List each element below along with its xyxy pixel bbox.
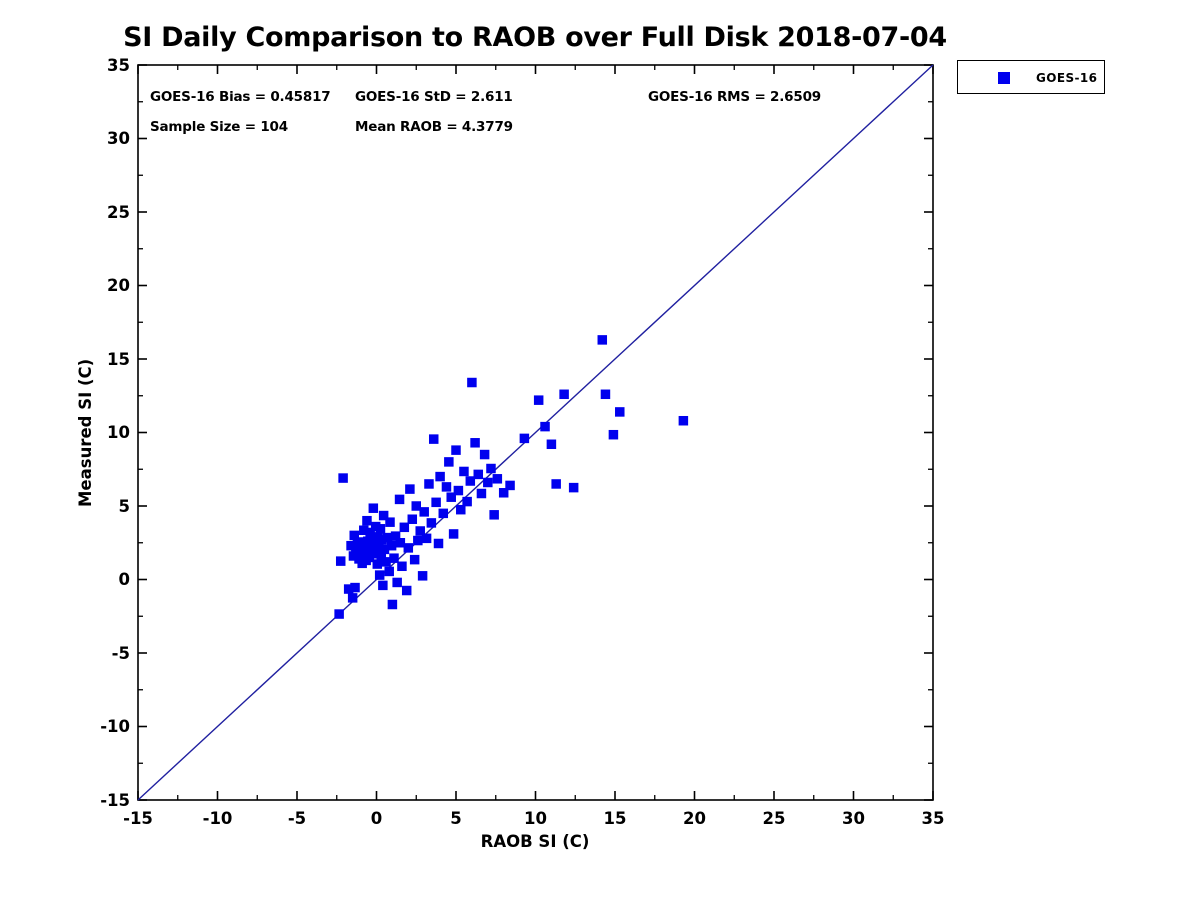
scatter-point <box>559 390 569 400</box>
annotation-std: GOES-16 StD = 2.611 <box>355 89 513 105</box>
scatter-point <box>429 434 439 444</box>
x-tick-label: 10 <box>496 809 576 828</box>
scatter-point <box>362 516 372 526</box>
scatter-point <box>434 539 444 549</box>
scatter-point <box>395 495 405 505</box>
scatter-point <box>615 407 625 417</box>
scatter-point <box>424 479 434 489</box>
scatter-point <box>405 484 415 494</box>
scatter-point <box>418 571 428 581</box>
scatter-point <box>408 514 418 524</box>
scatter-point <box>397 562 407 572</box>
scatter-point <box>387 541 397 551</box>
scatter-point <box>431 498 441 508</box>
scatter-point <box>369 503 379 512</box>
scatter-point <box>413 536 423 546</box>
scatter-point <box>505 481 515 491</box>
y-axis-title: Measured SI (C) <box>76 358 95 506</box>
x-tick-label: -10 <box>178 809 258 828</box>
scatter-point <box>474 470 484 480</box>
scatter-point <box>400 523 410 533</box>
annotation-bias: GOES-16 Bias = 0.45817 <box>150 89 330 105</box>
scatter-point <box>376 524 386 534</box>
scatter-point <box>480 450 490 460</box>
y-tick-label: -15 <box>50 791 130 810</box>
y-tick-label: 35 <box>50 56 130 75</box>
scatter-point <box>454 486 464 496</box>
y-tick-label: -5 <box>50 644 130 663</box>
y-tick-label: 20 <box>50 276 130 295</box>
y-tick-label: 30 <box>50 129 130 148</box>
scatter-point <box>467 378 477 388</box>
scatter-point <box>442 482 452 492</box>
x-tick-label: 25 <box>734 809 814 828</box>
scatter-point <box>404 543 414 553</box>
scatter-points <box>334 335 688 619</box>
x-tick-label: 35 <box>893 809 973 828</box>
scatter-point <box>449 529 459 539</box>
scatter-point <box>410 555 420 565</box>
scatter-point <box>336 556 346 566</box>
annotation-rms: GOES-16 RMS = 2.6509 <box>648 89 821 105</box>
scatter-point <box>348 593 358 603</box>
legend-swatch-goes-16 <box>998 72 1010 84</box>
y-tick-label: 0 <box>50 570 130 589</box>
x-tick-label: 0 <box>337 809 417 828</box>
scatter-point <box>598 335 608 345</box>
scatter-point <box>462 497 472 507</box>
scatter-point <box>679 416 689 426</box>
scatter-point <box>540 422 550 432</box>
scatter-point <box>470 438 480 448</box>
legend-label-goes-16: GOES-16 <box>1036 71 1097 85</box>
scatter-point <box>459 467 469 477</box>
scatter-point <box>451 445 461 455</box>
scatter-point <box>609 430 619 440</box>
scatter-point <box>435 472 445 482</box>
scatter-point <box>402 586 412 596</box>
scatter-point <box>456 505 466 515</box>
scatter-point <box>350 583 360 593</box>
scatter-point <box>384 567 394 577</box>
scatter-point <box>489 510 499 520</box>
scatter-point <box>551 479 561 489</box>
x-tick-label: 5 <box>416 809 496 828</box>
scatter-point <box>422 534 432 544</box>
scatter-point <box>477 489 487 499</box>
x-tick-label: 15 <box>575 809 655 828</box>
scatter-point <box>520 434 530 444</box>
scatter-point <box>378 581 388 591</box>
scatter-point <box>427 518 437 528</box>
scatter-point <box>334 609 344 619</box>
scatter-point <box>375 570 385 580</box>
scatter-point <box>389 553 399 563</box>
scatter-point <box>547 440 557 450</box>
scatter-point <box>493 474 503 484</box>
scatter-point <box>338 473 348 483</box>
scatter-point <box>534 395 544 405</box>
scatter-point <box>444 457 454 467</box>
annotation-sample-size: Sample Size = 104 <box>150 119 288 135</box>
x-tick-label: 20 <box>655 809 735 828</box>
y-tick-label: 25 <box>50 203 130 222</box>
scatter-point <box>483 478 493 488</box>
one-to-one-reference-line <box>138 65 933 800</box>
scatter-point <box>419 507 429 517</box>
chart-canvas: SI Daily Comparison to RAOB over Full Di… <box>0 0 1200 900</box>
plot-area <box>0 0 1200 900</box>
scatter-point <box>569 483 579 493</box>
annotation-mean-raob: Mean RAOB = 4.3779 <box>355 119 513 135</box>
scatter-point <box>385 517 395 527</box>
scatter-point <box>388 600 398 610</box>
x-tick-label: -15 <box>98 809 178 828</box>
scatter-point <box>486 464 496 474</box>
scatter-point <box>439 509 449 518</box>
x-tick-label: 30 <box>814 809 894 828</box>
legend: GOES-16 <box>957 60 1105 94</box>
x-tick-label: -5 <box>257 809 337 828</box>
scatter-point <box>373 559 383 569</box>
scatter-point <box>601 390 611 400</box>
scatter-point <box>392 578 402 588</box>
x-axis-title: RAOB SI (C) <box>0 832 1070 851</box>
y-tick-label: -10 <box>50 717 130 736</box>
